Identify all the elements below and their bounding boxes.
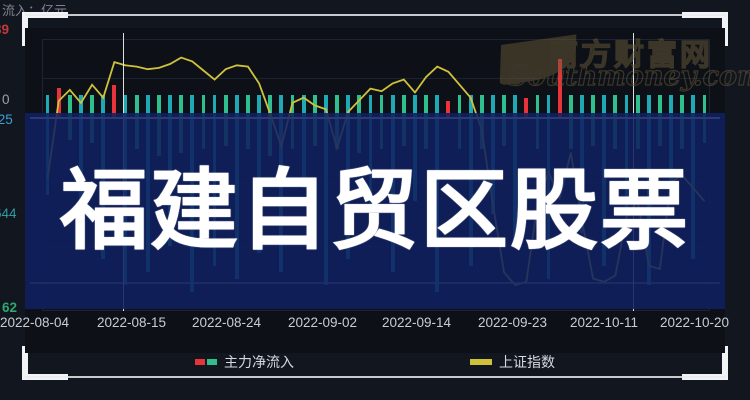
x-axis-tick-6: 2022-10-11 [570, 315, 638, 330]
legend-label-0: 主力净流入 [224, 352, 294, 372]
screenshot-root: 流入：亿元 39 福建自贸区股票 南方财富网 Southmone [0, 0, 750, 400]
frame-corner-tr-h [682, 12, 728, 18]
x-axis-labels: 2022-08-042022-08-152022-08-242022-09-02… [0, 315, 750, 337]
y-axis-label-644: 644 [0, 206, 17, 221]
x-axis-tick-1: 2022-08-15 [97, 315, 166, 330]
x-axis-tick-7: 2022-10-20 [660, 315, 729, 330]
y-axis-label-025: .25 [0, 112, 13, 127]
page-title: 福建自贸区股票 [60, 167, 690, 255]
y-axis-label-0: 0 [2, 92, 10, 107]
x-axis-tick-5: 2022-09-23 [478, 315, 547, 330]
y-axis-unit-label: 流入：亿元 [2, 0, 67, 19]
legend-item-1[interactable]: 上证指数 [470, 352, 555, 372]
legend-swatch-inflow-icon [195, 359, 217, 365]
title-overlay: 福建自贸区股票 [0, 113, 750, 309]
legend-label-1: 上证指数 [499, 352, 555, 372]
watermark: 南方财富网 Southmoney.com [500, 28, 740, 100]
x-axis-tick-2: 2022-08-24 [192, 315, 261, 330]
x-axis-tick-3: 2022-09-02 [288, 315, 357, 330]
frame-top-line [25, 14, 725, 16]
y-axis-top-value: 39 [0, 22, 9, 37]
x-axis-tick-0: 2022-08-04 [0, 315, 69, 330]
watermark-english: Southmoney.com [508, 61, 750, 92]
x-axis-tick-4: 2022-09-14 [382, 315, 451, 330]
legend-item-0[interactable]: 主力净流入 [195, 352, 294, 372]
chart-legend: 主力净流入上证指数 [0, 352, 750, 378]
y-axis-label-62: 62 [2, 300, 17, 315]
legend-swatch-index-icon [470, 359, 492, 365]
